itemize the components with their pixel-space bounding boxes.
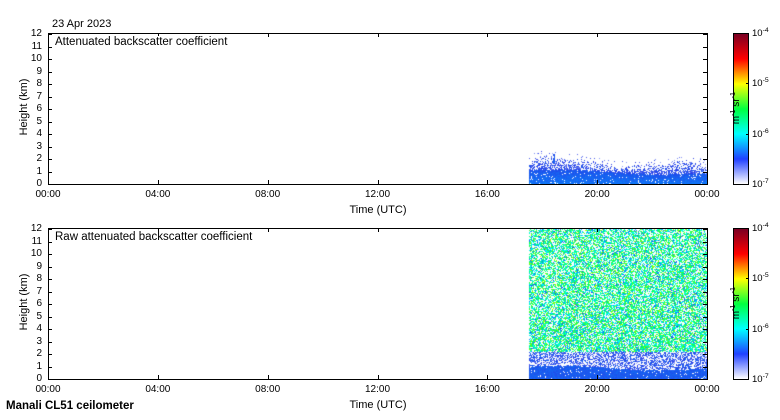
y-tick-mark bbox=[48, 279, 52, 280]
colorbar-tick-label: 10-5 bbox=[752, 272, 769, 284]
x-tick-label: 04:00 bbox=[138, 384, 178, 395]
x-tick-mark bbox=[158, 375, 159, 379]
colorbar-tick-mark bbox=[746, 134, 749, 135]
y-tick-mark bbox=[703, 109, 707, 110]
y-tick-mark bbox=[703, 267, 707, 268]
y-tick-mark bbox=[48, 342, 52, 343]
x-tick-label: 20:00 bbox=[577, 384, 617, 395]
y-tick-mark bbox=[703, 147, 707, 148]
colorbar-tick-label: 10-6 bbox=[752, 323, 769, 335]
y-tick-label: 10 bbox=[20, 248, 42, 259]
y-tick-mark bbox=[703, 72, 707, 73]
y-tick-mark bbox=[48, 72, 52, 73]
ceilometer-quicklook-page: 23 Apr 2023 Attenuated backscatter coeff… bbox=[0, 0, 780, 420]
y-tick-mark bbox=[48, 134, 52, 135]
y-tick-label: 12 bbox=[20, 28, 42, 39]
x-tick-mark bbox=[707, 180, 708, 184]
colorbar-tick-label: 10-7 bbox=[752, 373, 769, 385]
x-tick-mark bbox=[48, 375, 49, 379]
x-tick-label: 08:00 bbox=[248, 189, 288, 200]
colorbar-tick-label: 10-4 bbox=[752, 222, 769, 234]
y-tick-mark bbox=[48, 267, 52, 268]
y-tick-mark bbox=[703, 59, 707, 60]
x-tick-mark bbox=[48, 33, 49, 37]
x-tick-mark bbox=[378, 33, 379, 37]
y-tick-mark bbox=[48, 109, 52, 110]
y-tick-mark bbox=[703, 84, 707, 85]
x-tick-mark bbox=[487, 33, 488, 37]
y-tick-mark bbox=[703, 354, 707, 355]
y-axis-label-raw: Height (km) bbox=[18, 262, 30, 342]
y-tick-label: 2 bbox=[20, 153, 42, 164]
colorbar-tick-mark bbox=[746, 184, 749, 185]
y-tick-mark bbox=[48, 122, 52, 123]
colorbar-tick-mark bbox=[746, 278, 749, 279]
x-tick-mark bbox=[597, 228, 598, 232]
y-tick-mark bbox=[703, 159, 707, 160]
y-tick-mark bbox=[703, 172, 707, 173]
instrument-label: Manali CL51 ceilometer bbox=[6, 400, 134, 412]
x-tick-mark bbox=[268, 228, 269, 232]
x-axis-label-raw: Time (UTC) bbox=[338, 399, 418, 411]
x-tick-label: 08:00 bbox=[248, 384, 288, 395]
x-tick-mark bbox=[268, 375, 269, 379]
y-tick-mark bbox=[48, 97, 52, 98]
y-tick-mark bbox=[703, 367, 707, 368]
x-tick-label: 04:00 bbox=[138, 189, 178, 200]
x-tick-mark bbox=[268, 33, 269, 37]
y-tick-mark bbox=[48, 242, 52, 243]
y-tick-label: 1 bbox=[20, 361, 42, 372]
colorbar-tick-mark bbox=[746, 228, 749, 229]
y-tick-mark bbox=[703, 279, 707, 280]
heatmap-canvas-raw bbox=[49, 229, 707, 379]
y-tick-label: 11 bbox=[20, 41, 42, 52]
y-tick-mark bbox=[48, 254, 52, 255]
panel-title-raw: Raw attenuated backscatter coefficient bbox=[53, 231, 254, 244]
y-tick-label: 10 bbox=[20, 53, 42, 64]
x-tick-mark bbox=[158, 180, 159, 184]
colorbar-unit-attenuated: m-1 sr-1 bbox=[728, 63, 742, 153]
x-tick-mark bbox=[487, 180, 488, 184]
y-tick-mark bbox=[48, 172, 52, 173]
colorbar-tick-label: 10-6 bbox=[752, 128, 769, 140]
x-tick-mark bbox=[597, 33, 598, 37]
x-tick-label: 00:00 bbox=[687, 189, 727, 200]
colorbar-tick-mark bbox=[746, 379, 749, 380]
x-tick-mark bbox=[48, 180, 49, 184]
x-tick-label: 16:00 bbox=[467, 384, 507, 395]
x-tick-mark bbox=[487, 375, 488, 379]
y-tick-mark bbox=[703, 122, 707, 123]
x-tick-mark bbox=[268, 180, 269, 184]
x-tick-mark bbox=[48, 228, 49, 232]
colorbar-tick-label: 10-5 bbox=[752, 77, 769, 89]
y-tick-mark bbox=[48, 304, 52, 305]
y-tick-label: 12 bbox=[20, 223, 42, 234]
y-tick-mark bbox=[703, 379, 707, 380]
y-tick-mark bbox=[703, 134, 707, 135]
y-tick-label: 11 bbox=[20, 236, 42, 247]
y-tick-mark bbox=[703, 97, 707, 98]
y-axis-label-attenuated: Height (km) bbox=[18, 67, 30, 147]
heatmap-canvas-attenuated bbox=[49, 34, 707, 184]
y-tick-mark bbox=[48, 47, 52, 48]
panel-raw-attenuated-backscatter: Raw attenuated backscatter coefficient bbox=[48, 228, 708, 380]
y-tick-label: 0 bbox=[20, 373, 42, 384]
y-tick-label: 0 bbox=[20, 178, 42, 189]
x-tick-label: 12:00 bbox=[358, 384, 398, 395]
y-tick-mark bbox=[48, 329, 52, 330]
colorbar-tick-mark bbox=[746, 33, 749, 34]
y-tick-mark bbox=[48, 354, 52, 355]
y-tick-mark bbox=[48, 147, 52, 148]
x-tick-mark bbox=[707, 33, 708, 37]
y-tick-mark bbox=[48, 59, 52, 60]
y-tick-mark bbox=[703, 329, 707, 330]
x-tick-label: 12:00 bbox=[358, 189, 398, 200]
y-tick-mark bbox=[703, 304, 707, 305]
x-tick-mark bbox=[597, 375, 598, 379]
panel-title-attenuated: Attenuated backscatter coefficient bbox=[53, 36, 229, 49]
y-tick-mark bbox=[48, 367, 52, 368]
x-tick-label: 00:00 bbox=[687, 384, 727, 395]
x-tick-mark bbox=[378, 375, 379, 379]
y-tick-mark bbox=[703, 292, 707, 293]
colorbar-tick-label: 10-7 bbox=[752, 178, 769, 190]
y-tick-mark bbox=[703, 184, 707, 185]
x-tick-label: 20:00 bbox=[577, 189, 617, 200]
panel-attenuated-backscatter: Attenuated backscatter coefficient bbox=[48, 33, 708, 185]
y-tick-mark bbox=[703, 242, 707, 243]
x-tick-mark bbox=[378, 180, 379, 184]
x-tick-mark bbox=[707, 375, 708, 379]
colorbar-tick-label: 10-4 bbox=[752, 27, 769, 39]
x-axis-label-attenuated: Time (UTC) bbox=[338, 204, 418, 216]
x-tick-mark bbox=[378, 228, 379, 232]
colorbar-unit-raw: m-1 sr-1 bbox=[728, 258, 742, 348]
y-tick-label: 2 bbox=[20, 348, 42, 359]
y-tick-mark bbox=[48, 317, 52, 318]
y-tick-mark bbox=[48, 379, 52, 380]
x-tick-mark bbox=[597, 180, 598, 184]
y-tick-mark bbox=[703, 47, 707, 48]
x-tick-label: 16:00 bbox=[467, 189, 507, 200]
x-tick-mark bbox=[487, 228, 488, 232]
y-tick-mark bbox=[48, 184, 52, 185]
y-tick-mark bbox=[48, 159, 52, 160]
colorbar-tick-mark bbox=[746, 329, 749, 330]
y-tick-mark bbox=[703, 342, 707, 343]
x-tick-label: 00:00 bbox=[28, 189, 68, 200]
colorbar-tick-mark bbox=[746, 83, 749, 84]
y-tick-mark bbox=[703, 317, 707, 318]
y-tick-mark bbox=[48, 84, 52, 85]
y-tick-mark bbox=[703, 254, 707, 255]
y-tick-label: 1 bbox=[20, 166, 42, 177]
x-tick-label: 00:00 bbox=[28, 384, 68, 395]
y-tick-mark bbox=[48, 292, 52, 293]
date-label: 23 Apr 2023 bbox=[52, 18, 111, 30]
x-tick-mark bbox=[707, 228, 708, 232]
